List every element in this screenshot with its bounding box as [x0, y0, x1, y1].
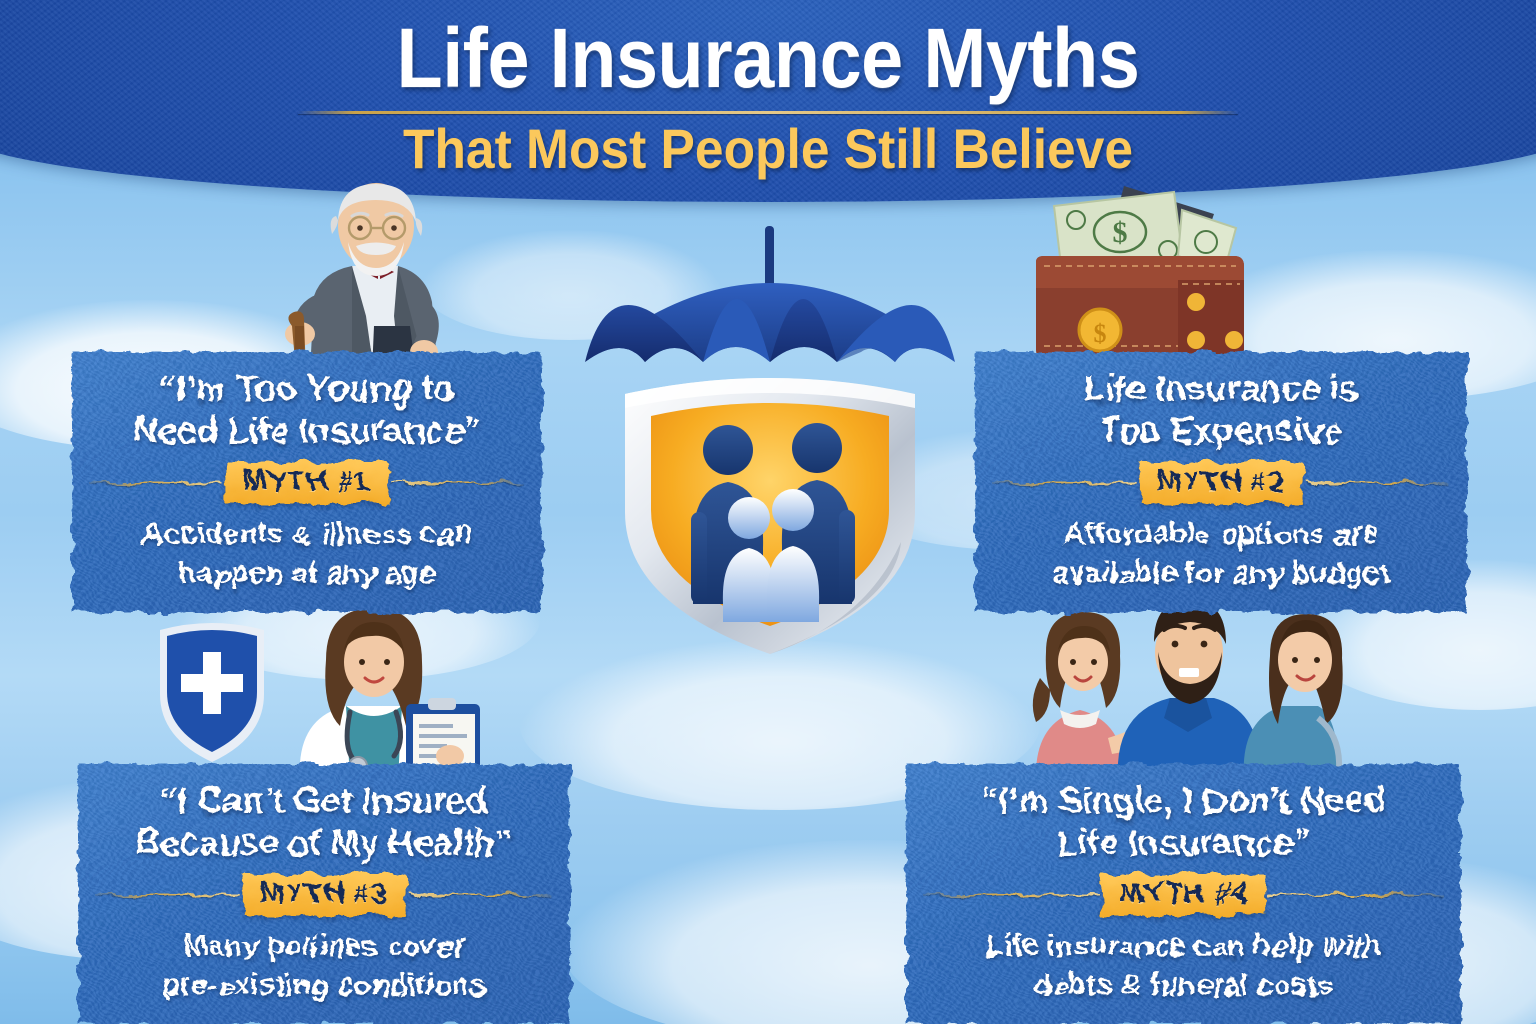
badge-rule-left	[993, 482, 1136, 484]
myth-badge: MYTH #3	[243, 874, 406, 916]
myth-card-2: Life Insurance is Too Expensive MYTH #2 …	[975, 352, 1467, 612]
myth-headline: “I Can’t Get Insured Because of My Healt…	[110, 780, 539, 864]
myth-subtext-line-1: Accidents & illness can	[101, 514, 513, 553]
infographic-poster: Life Insurance Myths That Most People St…	[0, 0, 1536, 1024]
myth-card-1: “I’m Too Young to Need Life Insurance” M…	[72, 352, 542, 612]
myth-headline-line-1: Life Insurance is	[1007, 368, 1436, 410]
myth-subtext-line-2: debts & funeral costs	[937, 965, 1430, 1004]
svg-text:$: $	[1094, 319, 1107, 348]
myth-badge-row: MYTH #1	[90, 464, 524, 502]
myth-badge: MYTH #1	[226, 462, 389, 504]
myth-card-4: “I’m Single, I Don’t Need Life Insurance…	[906, 764, 1461, 1024]
badge-rule-left	[90, 482, 222, 484]
badge-rule-right	[1306, 482, 1449, 484]
page-subtitle: That Most People Still Believe	[61, 118, 1474, 180]
myth-badge-row: MYTH #3	[96, 876, 552, 914]
myth-headline-line-2: Too Expensive	[1007, 410, 1436, 452]
myth-subtext: Life insurance can help with debts & fun…	[937, 926, 1430, 1004]
elderly-man-illustration	[248, 176, 478, 372]
myth-headline: Life Insurance is Too Expensive	[1007, 368, 1436, 452]
badge-rule-right	[1268, 894, 1443, 896]
family-illustration	[1018, 598, 1338, 780]
badge-rule-right	[392, 482, 524, 484]
myth-headline-line-1: “I Can’t Get Insured	[110, 780, 539, 822]
title-divider	[298, 111, 1238, 114]
myth-badge-row: MYTH #4	[924, 876, 1443, 914]
myth-card-3: “I Can’t Get Insured Because of My Healt…	[78, 764, 570, 1024]
svg-text:$: $	[1113, 216, 1128, 249]
page-title: Life Insurance Myths	[77, 14, 1459, 103]
myth-headline-line-1: “I’m Single, I Don’t Need	[940, 780, 1428, 822]
myth-subtext-line-2: pre-existing conditions	[107, 965, 540, 1004]
myth-headline-line-2: Life Insurance”	[940, 822, 1428, 864]
myth-subtext-line-1: Many poliines cover	[107, 926, 540, 965]
wallet-illustration: $ $	[1028, 170, 1258, 366]
myth-subtext-line-2: available for any budget	[1004, 553, 1437, 592]
badge-rule-left	[96, 894, 239, 896]
myth-headline-line-1: “I’m Too Young to	[103, 368, 511, 410]
myth-subtext-line-2: happen at any age	[101, 553, 513, 592]
myth-headline: “I’m Too Young to Need Life Insurance”	[103, 368, 511, 452]
myth-subtext: Many poliines cover pre-existing conditi…	[107, 926, 540, 1004]
myth-badge: MYTH #2	[1140, 462, 1303, 504]
myth-subtext-line-1: Affordable options are	[1004, 514, 1437, 553]
myth-subtext: Affordable options are available for any…	[1004, 514, 1437, 592]
header: Life Insurance Myths That Most People St…	[0, 0, 1536, 180]
myth-subtext: Accidents & illness can happen at any ag…	[101, 514, 513, 592]
badge-rule-left	[924, 894, 1099, 896]
myth-headline-line-2: Because of My Health”	[110, 822, 539, 864]
myth-headline-line-2: Need Life Insurance”	[103, 410, 511, 452]
myth-subtext-line-1: Life insurance can help with	[937, 926, 1430, 965]
health-illustration	[150, 600, 480, 780]
myth-headline: “I’m Single, I Don’t Need Life Insurance…	[940, 780, 1428, 864]
myth-badge: MYTH #4	[1102, 874, 1265, 916]
myth-badge-row: MYTH #2	[993, 464, 1449, 502]
badge-rule-right	[409, 894, 552, 896]
umbrella-shield-emblem	[565, 212, 975, 662]
